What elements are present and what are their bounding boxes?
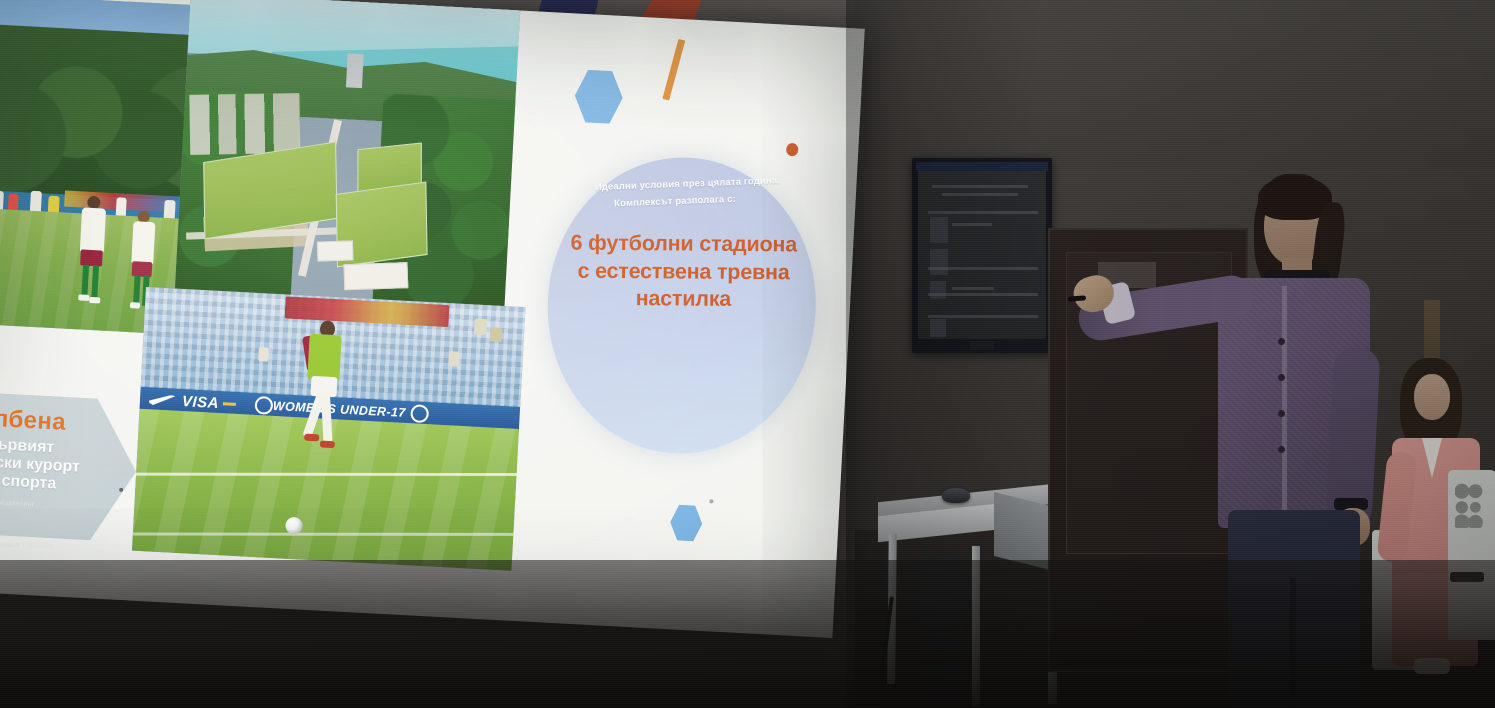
orange-bar-icon: [662, 39, 685, 101]
photo-aerial-sports-complex: [175, 0, 521, 310]
football-player: [75, 195, 109, 306]
hexagon-icon: [573, 68, 624, 126]
slide-headline: 6 футболни стадиона с естествена тревна …: [558, 230, 809, 315]
computer-mouse: [942, 488, 970, 503]
slide-credit-text: ставка Лияновов Горинов: [0, 538, 110, 551]
aerial-tower-building: [346, 53, 364, 88]
slide-kicker-line2: Комплексът разполага с:: [546, 190, 804, 214]
spectator: [258, 347, 269, 362]
pitch-line: [132, 473, 526, 476]
spectator: [474, 318, 487, 335]
football-player-striking: [298, 319, 352, 443]
slide-kicker-text: Идеални условия през цялата година. Комп…: [571, 173, 804, 213]
spectator: [490, 327, 503, 342]
nike-swoosh-icon: [149, 394, 176, 406]
aerial-building: [343, 262, 408, 290]
computer-monitor: [912, 158, 1052, 353]
pitch-line: [132, 533, 523, 536]
slide-headline-line2: с естествена тревна: [577, 259, 789, 285]
visa-label: VISA: [182, 393, 220, 412]
albena-tagline: Първият опейски курорт на спорта: [0, 431, 138, 497]
aerial-building: [317, 240, 354, 261]
presenter-shirt-placket: [1282, 286, 1287, 516]
shirt-button: [1278, 410, 1285, 417]
slide-circle-callout: Идеални условия през цялата година. Комп…: [540, 151, 823, 461]
spectator: [448, 351, 460, 367]
presenter: [1068, 168, 1398, 708]
dust-speck: [709, 499, 713, 503]
orange-dot-icon: [786, 143, 799, 157]
slide-headline-line1: 6 футболни стадиона: [570, 231, 797, 257]
shirt-button: [1278, 374, 1285, 381]
hexagon-icon: [669, 503, 703, 543]
albena-logo-banner: Албена Първият опейски курорт на спорта …: [0, 388, 140, 542]
presenter-leg-separation: [1290, 578, 1296, 708]
uefa-ring-icon: [254, 396, 273, 415]
monitor-screen-content: [918, 171, 1046, 339]
aerial-resort-buildings: [189, 93, 300, 155]
albena-tagline-line3: на спорта: [0, 471, 57, 492]
monitor-stand: [970, 341, 994, 350]
photo-stadium-match: VISA WOMEN'S UNDER-17: [132, 287, 526, 571]
visa-underline: [223, 402, 236, 406]
pc-tower: [920, 556, 966, 696]
slide-kicker-line1: Идеални условия през цялата година.: [595, 175, 781, 193]
slide-headline-line3: настилка: [636, 287, 732, 312]
shirt-button: [1278, 446, 1285, 453]
shirt-button: [1278, 338, 1285, 345]
albena-brand-name: Албена: [0, 400, 139, 441]
albena-micro-text: Маркетинг: [0, 494, 134, 514]
attendee-face: [1414, 374, 1450, 420]
projection-screen: VISA WOMEN'S UNDER-17 Албена: [0, 0, 865, 638]
plastic-chair: [1448, 470, 1495, 640]
uefa-ring-icon: [410, 404, 429, 423]
computer-desk: [878, 470, 1074, 708]
phone-on-chair: [1450, 572, 1484, 582]
desk-leg: [972, 546, 980, 706]
attendee-shoe: [1414, 658, 1450, 674]
screenshot-root: VISA WOMEN'S UNDER-17 Албена: [0, 0, 1495, 708]
albena-tagline-line1: Първият: [0, 436, 55, 457]
monitor-bezel: [916, 162, 1048, 171]
